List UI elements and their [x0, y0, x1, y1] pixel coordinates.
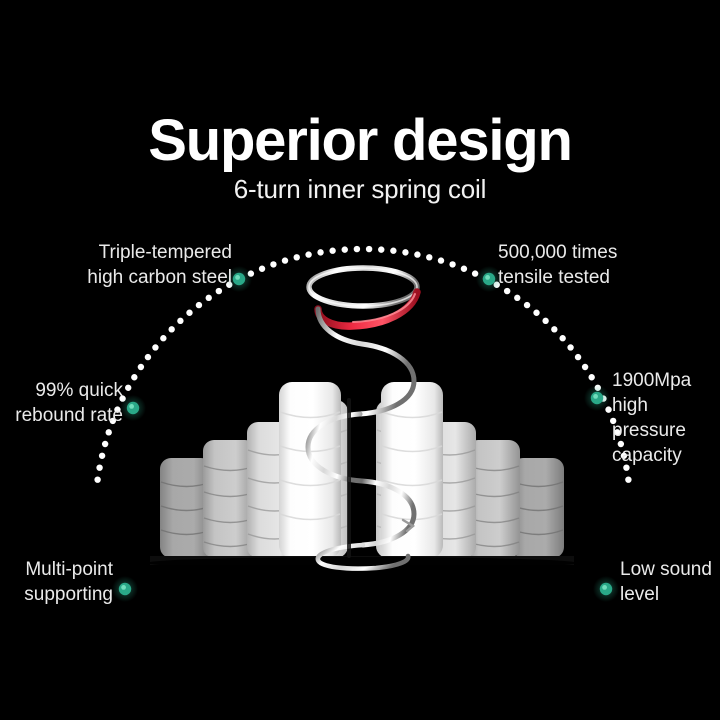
callout-multi-point-supporting: Multi-point supporting — [0, 557, 113, 607]
callout-tensile-tested: 500,000 times tensile tested — [498, 240, 708, 290]
pocket-column-center-left — [279, 382, 341, 558]
pocket-spring-stack — [147, 382, 577, 569]
callout-low-sound-level: Low sound level — [620, 557, 720, 607]
page-subtitle: 6-turn inner spring coil — [0, 176, 720, 202]
infographic-canvas: Superior design 6-turn inner spring coil… — [0, 0, 720, 720]
callout-triple-tempered: Triple-tempered high carbon steel — [32, 240, 232, 290]
callout-pressure-capacity: 1900Mpa high pressure capacity — [612, 368, 720, 468]
page-title: Superior design — [0, 112, 720, 170]
callout-rebound-rate: 99% quick rebound rate — [0, 378, 123, 428]
coil-top-loop-highlight — [309, 268, 417, 306]
